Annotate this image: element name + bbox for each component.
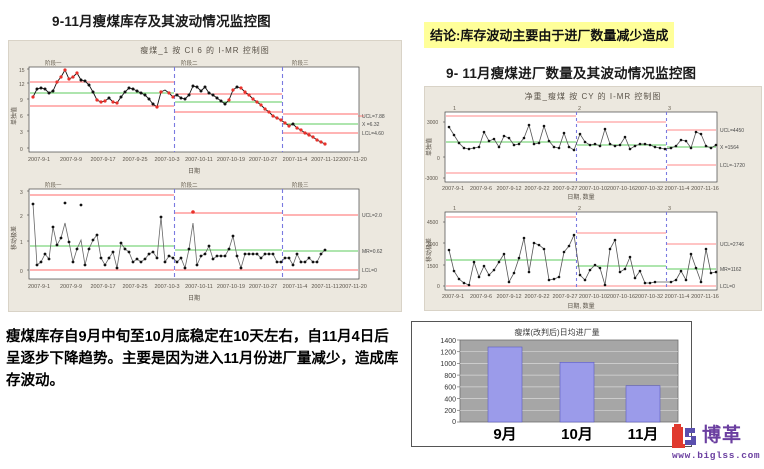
svg-text:2007-9-12: 2007-9-12 [496,294,521,300]
svg-text:2007-9-25: 2007-9-25 [122,157,147,163]
svg-text:2007-9-27: 2007-9-27 [552,294,577,300]
logo-url: www.biglss.com [672,450,760,461]
svg-text:9月: 9月 [493,426,516,443]
svg-text:11月: 11月 [628,426,659,443]
svg-text:2007-10-11: 2007-10-11 [185,284,213,290]
svg-text:2007-10-32: 2007-10-32 [635,186,663,192]
svg-text:15: 15 [19,68,25,74]
svg-text:2007-10-10: 2007-10-10 [579,294,607,300]
svg-text:2007-9-1: 2007-9-1 [442,186,464,192]
svg-text:2007-11-4: 2007-11-4 [665,294,690,300]
left-section-title: 9-11月瘦煤库存及其波动情况监控图 [52,10,271,30]
svg-text:MR=1162: MR=1162 [720,267,742,273]
left-moving-range-chart: 阶段一 阶段二 阶段三 32 10 移动极差 [9,178,401,306]
svg-text:400: 400 [444,396,456,403]
svg-text:2007-9-17: 2007-9-17 [90,284,115,290]
daily-inbound-bar-panel: 瘦煤(改判后)日均进厂量 14001200 1000800 600400 200… [411,321,692,447]
svg-text:移动极差: 移动极差 [425,238,433,262]
svg-text:2007-9-1: 2007-9-1 [28,157,50,163]
right-individuals-xticks: 2007-9-12007-9-6 2007-9-122007-9-22 2007… [442,186,719,192]
right-individuals-xlabel: 日期, 数量 [567,193,594,201]
svg-text:4500: 4500 [427,220,438,226]
svg-text:200: 200 [444,408,456,415]
left-mr-xticks: 2007-9-12007-9-9 2007-9-172007-9-25 2007… [28,284,367,290]
left-individuals-chart: 阶段一 阶段二 阶段三 1512 96 30 单独值 [9,56,401,178]
svg-text:2: 2 [578,106,581,112]
svg-text:UCL=2.0: UCL=2.0 [362,213,382,219]
svg-text:3: 3 [668,206,671,212]
svg-text:600: 600 [444,385,456,392]
right-section-title: 9- 11月瘦煤进厂数量及其波动情况监控图 [446,62,696,82]
svg-text:2007-9-12: 2007-9-12 [496,186,521,192]
left-individuals-xticks: 2007-9-12007-9-9 2007-9-172007-9-25 2007… [28,157,367,163]
svg-text:2007-11-20: 2007-11-20 [339,157,367,163]
bar-chart-title: 瘦煤(改判后)日均进厂量 [514,327,599,337]
svg-text:10月: 10月 [561,426,593,443]
svg-text:2007-9-25: 2007-9-25 [122,284,147,290]
svg-text:LCL=4.60: LCL=4.60 [362,131,384,137]
svg-text:2007-10-27: 2007-10-27 [249,157,277,163]
svg-text:1200: 1200 [440,350,456,357]
svg-text:12: 12 [19,82,25,88]
logo-mark-icon [672,424,698,450]
svg-text:0: 0 [437,284,440,290]
svg-text:1: 1 [20,240,23,246]
right-mr-xlabel: 日期, 数量 [567,302,594,310]
phase-label-1: 阶段一 [45,59,62,67]
svg-text:2007-10-3: 2007-10-3 [154,157,179,163]
svg-text:2007-9-1: 2007-9-1 [28,284,50,290]
svg-text:2007-10-27: 2007-10-27 [249,284,277,290]
bar-sep [488,347,522,422]
right-chart-title: 净重_瘦煤 按 CY 的 I-MR 控制图 [425,87,761,102]
bar-oct [560,362,594,422]
phase-label-3: 阶段三 [292,59,309,67]
svg-text:800: 800 [444,373,456,380]
svg-text:2007-10-32: 2007-10-32 [635,294,663,300]
svg-text:3000: 3000 [427,120,438,126]
svg-text:6: 6 [20,114,23,120]
svg-text:X =1564: X =1564 [720,145,739,151]
right-control-chart-panel: 净重_瘦煤 按 CY 的 I-MR 控制图 1 2 3 30000-3000 单… [424,86,762,311]
svg-text:1000: 1000 [440,361,456,368]
svg-text:UCL=7.88: UCL=7.88 [362,114,385,120]
svg-text:2007-9-17: 2007-9-17 [90,157,115,163]
svg-text:2007-10-10: 2007-10-10 [579,186,607,192]
svg-text:0: 0 [20,269,23,275]
svg-text:1: 1 [453,206,456,212]
svg-text:2007-11-4: 2007-11-4 [283,284,308,290]
svg-text:9: 9 [20,98,23,104]
left-mr-svg: 阶段一 阶段二 阶段三 32 10 移动极差 [9,178,401,306]
svg-text:1: 1 [453,106,456,112]
company-logo: 博革 www.biglss.com [672,424,760,466]
svg-text:2007-11-4: 2007-11-4 [283,157,308,163]
left-mr-xlabel: 日期 [188,294,200,302]
svg-text:UCL=2746: UCL=2746 [720,242,744,248]
logo-text: 博革 [702,425,742,447]
left-chart-title: 瘦煤_1 按 Cl 6 的 I-MR 控制图 [9,41,401,56]
svg-text:2007-11-11: 2007-11-11 [311,284,338,290]
svg-text:X =6.32: X =6.32 [362,122,380,128]
mr-phase-label-1: 阶段一 [45,181,62,189]
left-analysis-note: 瘦煤库存自9月中旬至10月底稳定在10天左右，自11月4日后呈逐步下降趋势。主要… [6,326,402,392]
svg-text:2007-9-27: 2007-9-27 [552,186,577,192]
svg-text:UCL=4450: UCL=4450 [720,128,744,134]
slide-root: 9-11月瘦煤库存及其波动情况监控图 瘦煤_1 按 Cl 6 的 I-MR 控制… [0,0,764,469]
svg-text:MR=0.62: MR=0.62 [362,249,383,255]
svg-text:0: 0 [452,419,456,426]
svg-text:2007-10-19: 2007-10-19 [217,157,245,163]
svg-text:2007-10-3: 2007-10-3 [154,284,179,290]
bar-chart-svg: 瘦煤(改判后)日均进厂量 14001200 1000800 600400 200… [412,322,691,446]
svg-text:2007-10-16: 2007-10-16 [607,186,635,192]
svg-text:1500: 1500 [427,264,438,270]
svg-text:0: 0 [437,156,440,162]
svg-text:单独值: 单独值 [425,138,433,156]
svg-text:LCL=0: LCL=0 [362,268,377,274]
left-mr-violation [191,210,195,214]
svg-text:2007-9-1: 2007-9-1 [442,294,464,300]
svg-text:2: 2 [20,214,23,220]
left-individuals-svg: 阶段一 阶段二 阶段三 1512 96 30 单独值 [9,56,401,178]
svg-text:2: 2 [578,206,581,212]
right-individuals-svg: 1 2 3 30000-3000 单独值 [425,102,761,202]
left-individuals-limit-labels: UCL=7.88 X =6.32 LCL=4.60 [362,114,385,137]
mr-phase-label-2: 阶段二 [181,181,198,189]
conclusion-banner: 结论:库存波动主要由于进厂数量减少造成 [424,22,674,48]
svg-text:2007-11-16: 2007-11-16 [691,294,719,300]
svg-text:单独值: 单独值 [10,107,18,125]
svg-text:2007-11-4: 2007-11-4 [665,186,690,192]
svg-text:2007-11-16: 2007-11-16 [691,186,719,192]
svg-text:2007-9-6: 2007-9-6 [470,294,492,300]
left-control-chart-panel: 瘦煤_1 按 Cl 6 的 I-MR 控制图 阶段一 阶段二 阶段三 1512 … [8,40,402,312]
left-individuals-xlabel: 日期 [188,167,200,175]
svg-text:1400: 1400 [440,338,456,345]
svg-text:2007-9-6: 2007-9-6 [470,186,492,192]
svg-text:3: 3 [20,190,23,196]
left-mr-yticks: 32 10 [20,190,23,275]
right-mr-limit-labels: UCL=2746 MR=1162 LCL=0 [720,242,744,290]
svg-text:2007-11-20: 2007-11-20 [339,284,367,290]
svg-text:0: 0 [20,147,23,153]
right-mr-xticks: 2007-9-12007-9-6 2007-9-122007-9-22 2007… [442,294,719,300]
svg-text:2007-10-16: 2007-10-16 [607,294,635,300]
bar-chart-yticks: 14001200 1000800 600400 2000 [440,338,456,426]
svg-text:2007-9-9: 2007-9-9 [60,157,82,163]
svg-text:2007-10-11: 2007-10-11 [185,157,213,163]
right-mr-svg: 1 2 3 45003000 15000 移动极差 [425,202,761,310]
svg-text:3: 3 [20,130,23,136]
phase-label-2: 阶段二 [181,59,198,67]
svg-text:LCL=-1720: LCL=-1720 [720,163,745,169]
svg-text:2007-9-9: 2007-9-9 [60,284,82,290]
svg-text:-3000: -3000 [425,176,438,182]
svg-text:LCL=0: LCL=0 [720,284,735,290]
svg-text:3: 3 [668,106,671,112]
bar-nov [626,386,660,422]
left-mr-limit-labels: UCL=2.0 MR=0.62 LCL=0 [362,213,383,274]
svg-text:移动极差: 移动极差 [10,226,18,250]
mr-phase-label-3: 阶段三 [292,181,309,189]
svg-text:2007-10-19: 2007-10-19 [217,284,245,290]
svg-text:2007-9-22: 2007-9-22 [524,186,549,192]
bar-chart-categories: 9月 10月 11月 [493,426,658,443]
right-individuals-limit-labels: UCL=4450 X =1564 LCL=-1720 [720,128,745,169]
svg-text:2007-11-12: 2007-11-12 [311,157,339,163]
svg-text:2007-9-22: 2007-9-22 [524,294,549,300]
left-individuals-yticks: 1512 96 30 [19,68,25,153]
